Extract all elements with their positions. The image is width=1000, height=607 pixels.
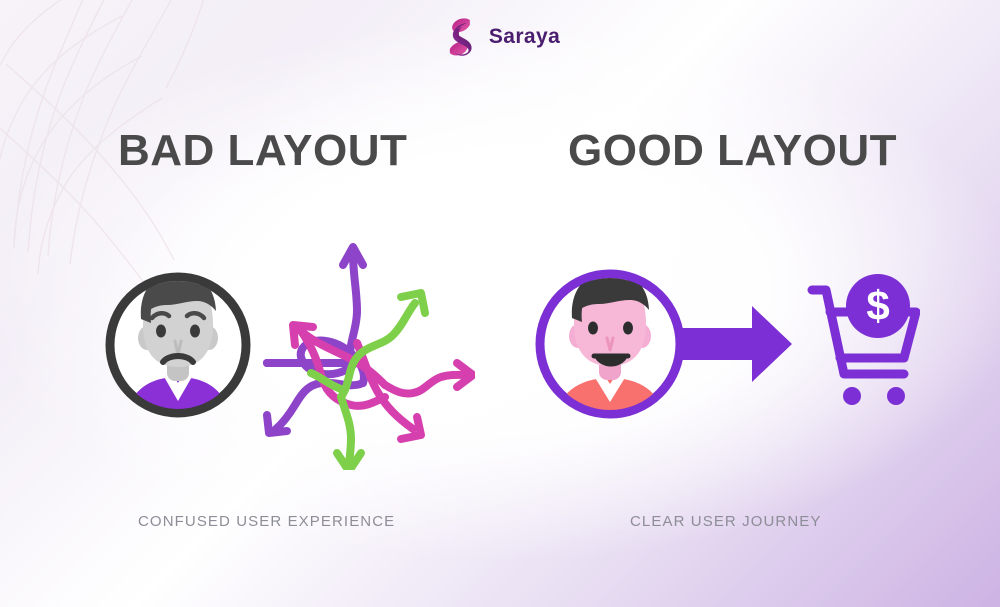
brand-logo: Saraya: [440, 14, 560, 60]
brand-name: Saraya: [489, 25, 560, 49]
heading-good-layout: GOOD LAYOUT: [568, 126, 897, 176]
happy-user-avatar: [540, 272, 680, 426]
caption-confused-user-experience: CONFUSED USER EXPERIENCE: [138, 513, 395, 530]
confused-user-avatar: [110, 273, 246, 425]
heading-bad-layout: BAD LAYOUT: [118, 126, 407, 176]
saraya-s-swoosh-logo: [440, 15, 480, 59]
caption-clear-user-journey: CLEAR USER JOURNEY: [630, 513, 822, 530]
tangled-arrows: [267, 247, 473, 470]
infographic-canvas: Saraya BAD LAYOUT GOOD LAYOUT: [0, 0, 1000, 607]
dollar-symbol: $: [866, 282, 889, 329]
bad-layout-illustration: [95, 225, 475, 470]
good-layout-illustration: $: [530, 248, 920, 448]
dollar-coin-badge: $: [846, 274, 910, 338]
